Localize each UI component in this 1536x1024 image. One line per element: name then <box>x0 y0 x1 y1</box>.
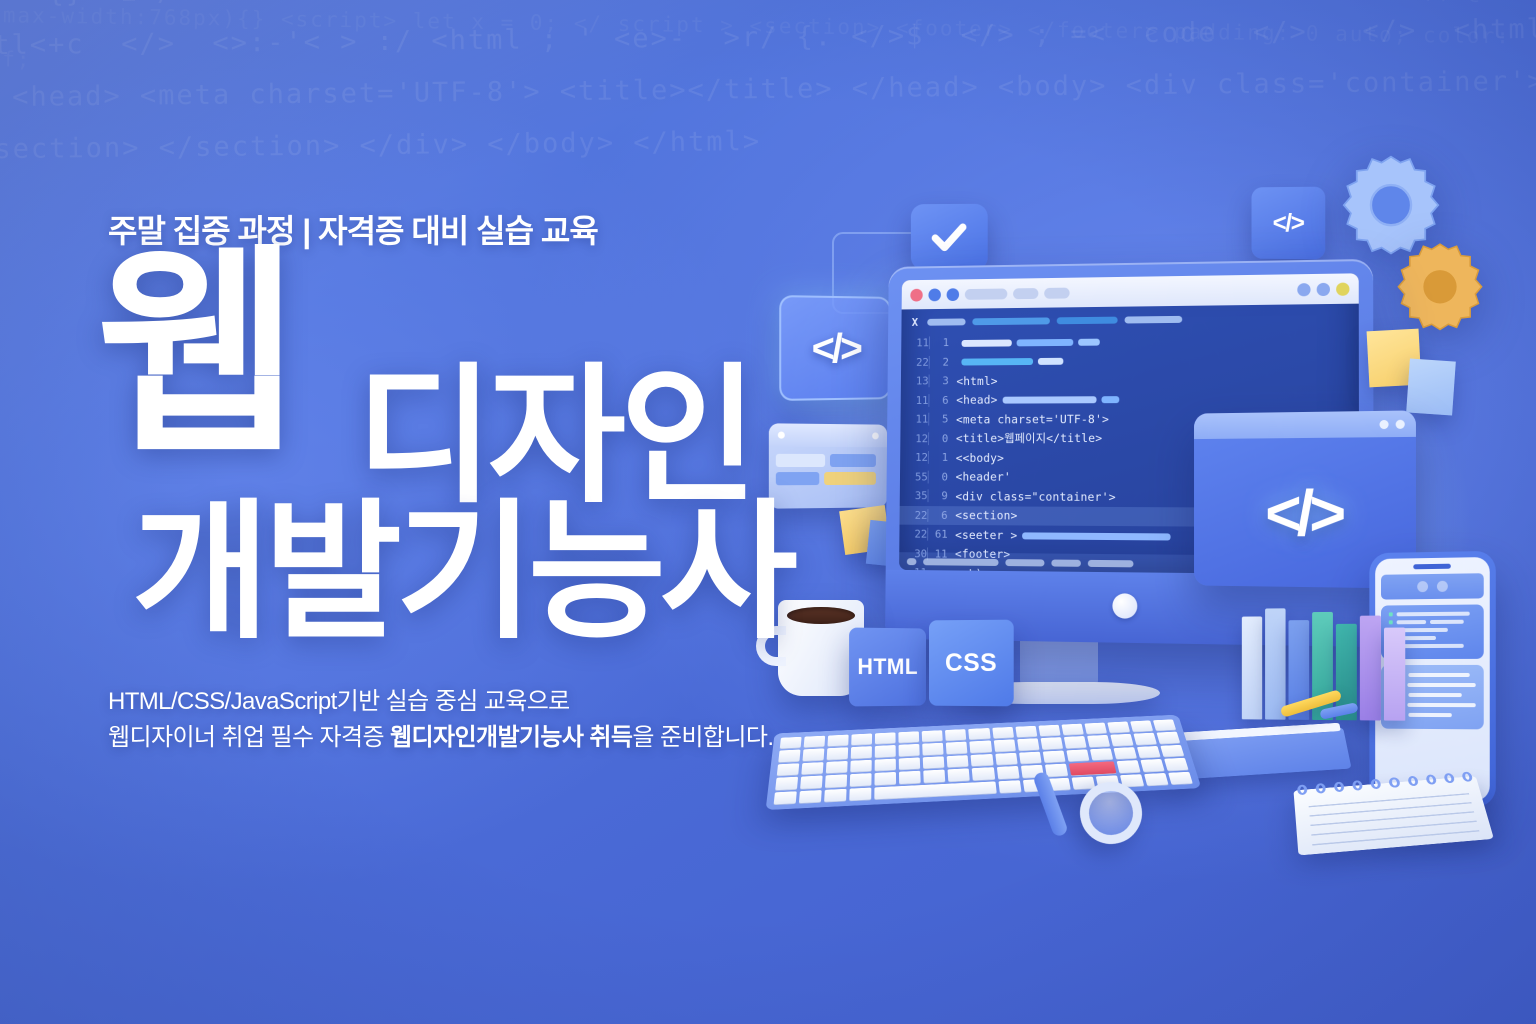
editor-tab-seg <box>1057 317 1118 325</box>
description-line-1: HTML/CSS/JavaScript기반 실습 중심 교육으로 <box>108 684 828 720</box>
keyboard-key[interactable] <box>1107 722 1130 734</box>
code-line-number-left: 11 <box>905 337 929 350</box>
window-minimize-icon[interactable] <box>928 288 941 301</box>
code-line-number-right: 61 <box>927 528 947 541</box>
flat-notebook <box>1171 727 1351 780</box>
code-line-number-right: 6 <box>928 394 948 407</box>
hero-copy-block: 주말 집중 과정 | 자격증 대비 실습 교육 웹 디자인 개발기능사 HTML… <box>108 206 828 755</box>
keyboard-key[interactable] <box>946 742 968 754</box>
code-badge: </> <box>1252 187 1326 260</box>
keyboard-key[interactable] <box>993 740 1015 752</box>
keyboard-key[interactable] <box>1090 748 1113 760</box>
phone-notch <box>1413 564 1451 570</box>
keyboard-key[interactable] <box>1061 724 1083 736</box>
keyboard-key[interactable] <box>1153 719 1176 730</box>
book <box>1265 608 1285 719</box>
description-line-2-pre: 웹디자이너 취업 필수 자격증 <box>108 724 390 751</box>
check-bubble <box>911 204 988 271</box>
description-line-2: 웹디자이너 취업 필수 자격증 웹디자인개발기능사 취득을 준비합니다. <box>108 720 828 756</box>
code-line-text: <section> <box>955 508 1017 522</box>
code-glyph-icon: </> <box>1273 208 1304 237</box>
keyboard-key[interactable] <box>1133 733 1156 745</box>
headline-word-design: 디자인 <box>356 372 752 501</box>
keyboard-key[interactable] <box>1116 760 1140 773</box>
description-line-2-bold: 웹디자인개발기능사 취득 <box>390 724 632 751</box>
code-line-number-left: 22 <box>905 356 929 369</box>
titlebar-pill <box>965 288 1008 299</box>
window-dot-icon <box>1380 419 1389 428</box>
keyboard-key[interactable] <box>969 728 991 740</box>
code-window-titlebar <box>1194 410 1416 439</box>
code-line-number-left: 55 <box>904 470 928 483</box>
code-line-number-right: 2 <box>929 356 949 369</box>
keyboard-key[interactable] <box>851 746 872 758</box>
keyboard-key[interactable] <box>800 776 823 789</box>
keyboard-key[interactable] <box>992 727 1014 739</box>
keyboard-key[interactable] <box>799 790 822 803</box>
keyboard-key[interactable] <box>1015 726 1037 738</box>
code-blur-segment <box>1101 396 1119 403</box>
keyboard-key[interactable] <box>1019 752 1042 764</box>
code-blur-segment <box>962 339 1012 346</box>
keyboard-key[interactable] <box>1137 746 1161 758</box>
keyboard-key[interactable] <box>923 743 944 755</box>
keyboard-key[interactable] <box>777 763 800 776</box>
code-line-number-right: 0 <box>928 432 948 445</box>
sticky-note-blue <box>1406 358 1456 415</box>
code-line-text: <div class="container'> <box>955 489 1115 504</box>
keyboard-key[interactable] <box>1069 761 1117 775</box>
code-line-text: <<body> <box>956 451 1004 465</box>
keyboard-key[interactable] <box>899 757 920 769</box>
titlebar-dot-icon <box>1317 282 1330 295</box>
keyboard-key[interactable] <box>875 758 896 770</box>
description-text: HTML/CSS/JavaScript기반 실습 중심 교육으로 웹디자이너 취… <box>108 684 828 755</box>
keyboard-key[interactable] <box>1144 773 1168 786</box>
keyboard-key[interactable] <box>945 729 966 741</box>
keyboard-key[interactable] <box>1066 749 1089 761</box>
code-line-number-left: 13 <box>905 375 929 388</box>
code-line-number-left: 12 <box>904 432 928 445</box>
code-line-number-right: 9 <box>928 490 948 503</box>
code-line-text: <meta charset='UTF-8'> <box>956 412 1109 426</box>
keyboard-key[interactable] <box>1164 758 1188 770</box>
wireframe-bar <box>830 454 876 467</box>
code-line-number-left: 35 <box>904 490 928 503</box>
keyboard-key[interactable] <box>948 768 970 781</box>
keyboard-key[interactable] <box>899 731 920 743</box>
code-line-number-right: 1 <box>928 451 948 464</box>
code-blur-segment <box>1078 338 1100 345</box>
spiral-notepad <box>1293 776 1493 855</box>
keyboard-key[interactable] <box>875 772 897 785</box>
keyboard-key[interactable] <box>1160 745 1184 757</box>
code-line-number-right: 3 <box>929 375 949 388</box>
keyboard-key[interactable] <box>996 766 1019 779</box>
keyboard-key[interactable] <box>924 770 946 783</box>
code-line-number-right: 0 <box>928 470 948 483</box>
editor-tab-seg <box>972 317 1050 325</box>
editor-tab-seg <box>1125 316 1183 324</box>
keyboard-key[interactable] <box>1045 764 1068 777</box>
keyboard-key[interactable] <box>851 733 872 745</box>
keyboard-key[interactable] <box>922 730 943 742</box>
hero-banner: </><{}> i=/--i?>- 8><html><st e </> >< /… <box>0 0 1536 1024</box>
code-blur-segment <box>1002 397 1096 404</box>
phone-header-dot-icon <box>1417 581 1428 592</box>
code-line-text: <header' <box>956 470 1011 484</box>
titlebar-pill <box>1013 288 1038 299</box>
keyboard-key[interactable] <box>850 773 872 786</box>
cube-css: CSS <box>929 620 1014 707</box>
keyboard-key[interactable] <box>775 777 798 790</box>
code-line-number-left: 11 <box>904 394 928 407</box>
code-line-number-right: 5 <box>928 413 948 426</box>
keyboard-key[interactable] <box>825 774 847 787</box>
keyboard-key[interactable] <box>827 748 849 760</box>
keyboard-key[interactable] <box>1042 750 1065 762</box>
window-close-icon[interactable] <box>910 288 923 301</box>
code-line: 116 <head> <box>901 388 1359 410</box>
keyboard-key[interactable] <box>1130 720 1153 732</box>
code-line-text: <html> <box>956 374 997 388</box>
keyboard-key[interactable] <box>801 762 823 775</box>
code-blur-segment <box>1022 532 1170 540</box>
code-line-number-left: 12 <box>904 451 928 464</box>
keyboard-key[interactable] <box>875 745 896 757</box>
keyboard-key[interactable] <box>1017 739 1039 751</box>
keyboard-key[interactable] <box>1087 735 1110 747</box>
code-line-text: <head> <box>956 392 1119 407</box>
check-icon <box>928 216 969 258</box>
monitor-power-button[interactable] <box>1112 593 1137 619</box>
keyboard-key[interactable] <box>972 767 994 780</box>
keyboard-key[interactable] <box>875 732 896 744</box>
keyboard-key[interactable] <box>774 791 797 804</box>
keyboard-key[interactable] <box>828 735 849 747</box>
keyboard-key[interactable] <box>998 780 1021 793</box>
keyboard-key[interactable] <box>995 753 1017 765</box>
book <box>1242 616 1262 719</box>
window-maximize-icon[interactable] <box>947 288 960 301</box>
code-line: 133<html> <box>901 369 1359 391</box>
code-line-number-left: 22 <box>903 509 927 522</box>
keyboard-key[interactable] <box>970 741 992 753</box>
keyboard-key[interactable] <box>850 760 872 773</box>
phone-header <box>1381 573 1484 599</box>
code-blur-segment <box>1038 358 1063 365</box>
code-line-number-left: 11 <box>904 413 928 426</box>
code-line-text <box>957 354 1064 369</box>
keyboard-key[interactable] <box>971 754 993 766</box>
code-line-text: <seeter > <box>955 528 1171 544</box>
keyboard-key[interactable] <box>1110 734 1133 746</box>
keyboard-key[interactable] <box>899 771 921 784</box>
code-blur-segment <box>1017 339 1074 346</box>
code-blur-segment <box>961 358 1033 365</box>
window-dot-icon <box>1396 419 1405 428</box>
code-line-text <box>957 334 1100 349</box>
gear-orange-icon <box>1388 240 1492 344</box>
titlebar-pill <box>1044 287 1069 298</box>
keyboard-key[interactable] <box>849 787 871 800</box>
keyboard-key[interactable] <box>899 744 920 756</box>
editor-tab-seg <box>927 318 965 325</box>
code-line-number-right: 1 <box>929 336 949 349</box>
phone-header-dot-icon <box>1436 581 1447 592</box>
book <box>1384 628 1405 721</box>
editor-tab-label: X <box>909 316 921 329</box>
keyboard-key[interactable] <box>1168 771 1193 784</box>
keyboard-key[interactable] <box>947 755 969 767</box>
keyboard-key[interactable] <box>824 789 847 802</box>
code-line-number-right: 6 <box>927 509 947 522</box>
notebook-pages <box>1174 723 1341 741</box>
wireframe-bar <box>824 472 876 485</box>
keyboard-key[interactable] <box>1064 736 1087 748</box>
keyboard-key[interactable] <box>1113 747 1137 759</box>
keyboard-key[interactable] <box>1040 737 1063 749</box>
illustration-scene: </> </> <box>720 0 1536 1024</box>
headline-word-web: 웹 <box>96 260 290 451</box>
titlebar-dot-icon <box>1297 283 1310 296</box>
cube-html: HTML <box>849 628 926 707</box>
code-line-number-left: 22 <box>903 528 927 541</box>
titlebar-dot-icon <box>1336 282 1349 295</box>
description-line-2-post: 을 준비합니다. <box>632 724 773 751</box>
keyboard-key[interactable] <box>1140 759 1164 772</box>
page-title: 웹 디자인 개발기능사 <box>108 266 828 670</box>
keyboard-key[interactable] <box>923 756 945 768</box>
keyboard-key[interactable] <box>826 761 848 774</box>
code-line-text: <title>웹페이지</title> <box>956 430 1102 446</box>
wireframe-dot-right-icon <box>872 432 879 439</box>
keyboard-key[interactable] <box>1157 732 1181 744</box>
book <box>1360 616 1381 721</box>
keyboard-key[interactable] <box>1084 723 1107 735</box>
keyboard-key[interactable] <box>1038 725 1060 737</box>
headline-word-developer: 개발기능사 <box>132 508 792 637</box>
